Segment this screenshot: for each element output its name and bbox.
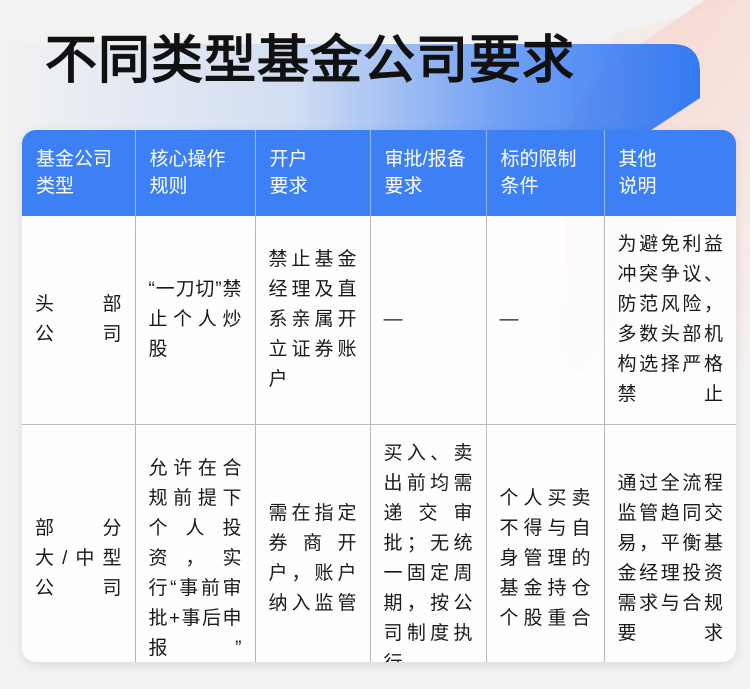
cell-account-requirement: 禁止基金经理及直系亲属开立证券账户 [255, 216, 370, 425]
table-body: 头部 公司 “一刀切”禁止个人炒股 禁止基金经理及直系亲属开立证券账户 — — … [22, 216, 736, 662]
cell-target-restriction: 个人买卖不得与自身管理的基金持仓个股重合 [486, 425, 604, 663]
table-header: 基金公司 类型 核心操作 规则 开户 要求 审批/报备 要求 标的限制 条件 其… [22, 130, 736, 216]
cell-approval-requirement: — [370, 216, 486, 425]
column-header-core-rule: 核心操作 规则 [135, 130, 255, 216]
table-header-row: 基金公司 类型 核心操作 规则 开户 要求 审批/报备 要求 标的限制 条件 其… [22, 130, 736, 216]
cell-core-rule: “一刀切”禁止个人炒股 [135, 216, 255, 425]
cell-other-notes: 为避免利益冲突争议、防范风险，多数头部机构选择严格禁止 [604, 216, 736, 425]
cell-company-type: 部分 大/中型 公司 [22, 425, 135, 663]
requirements-table: 基金公司 类型 核心操作 规则 开户 要求 审批/报备 要求 标的限制 条件 其… [22, 130, 736, 662]
column-header-approval: 审批/报备 要求 [370, 130, 486, 216]
title-area: 不同类型基金公司要求 [0, 0, 750, 125]
cell-approval-requirement: 买入、卖出前均需递交审批；无统一固定周期，按公司制度执行 [370, 425, 486, 663]
cell-core-rule: 允许在合规前提下个人投资，实行“事前审批+事后申报” [135, 425, 255, 663]
page-title: 不同类型基金公司要求 [45, 26, 575, 96]
column-header-account: 开户 要求 [255, 130, 370, 216]
column-header-other: 其他 说明 [604, 130, 736, 216]
cell-target-restriction: — [486, 216, 604, 425]
requirements-table-card: 基金公司 类型 核心操作 规则 开户 要求 审批/报备 要求 标的限制 条件 其… [22, 130, 736, 662]
column-header-restriction: 标的限制 条件 [486, 130, 604, 216]
table-row: 头部 公司 “一刀切”禁止个人炒股 禁止基金经理及直系亲属开立证券账户 — — … [22, 216, 736, 425]
cell-other-notes: 通过全流程监管趋同交易，平衡基金经理投资需求与合规要求 [604, 425, 736, 663]
cell-account-requirement: 需在指定券商开户，账户纳入监管 [255, 425, 370, 663]
cell-company-type: 头部 公司 [22, 216, 135, 425]
column-header-company-type: 基金公司 类型 [22, 130, 135, 216]
table-row: 部分 大/中型 公司 允许在合规前提下个人投资，实行“事前审批+事后申报” 需在… [22, 425, 736, 663]
